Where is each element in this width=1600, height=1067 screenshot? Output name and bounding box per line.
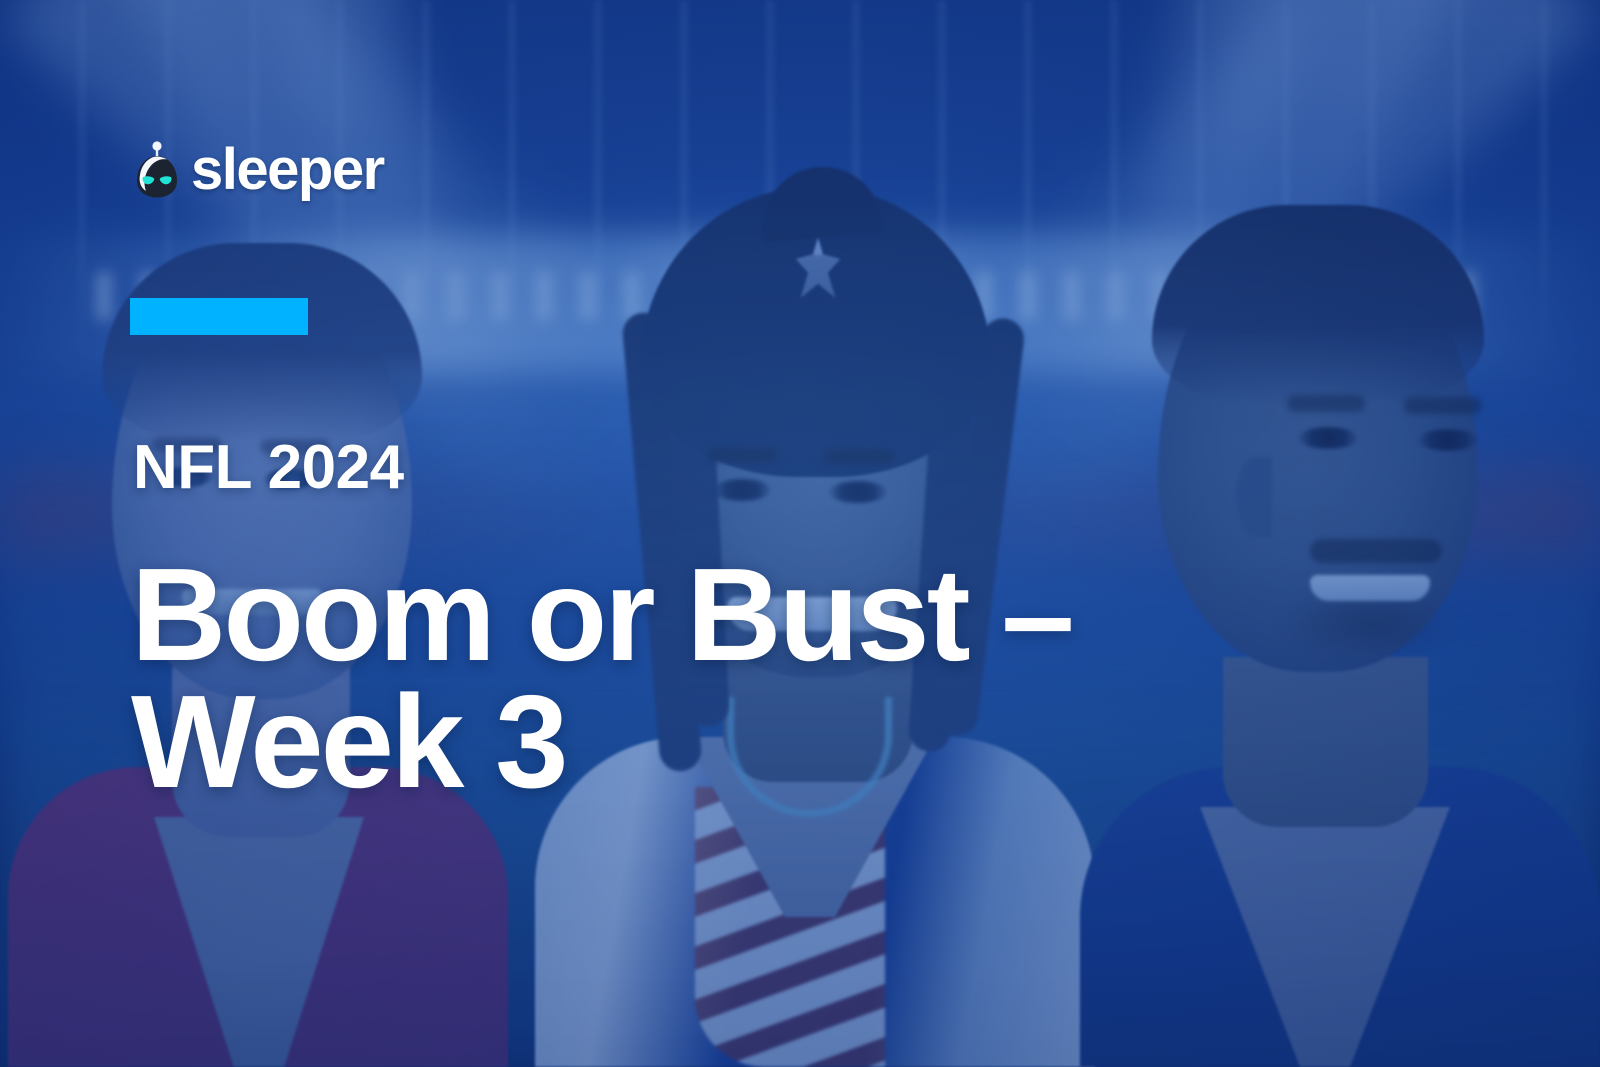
banner-content: sleeper NFL 2024 Boom or Bust – Week 3 — [0, 0, 1600, 1067]
banner-headline: Boom or Bust – Week 3 — [131, 552, 1331, 805]
sleeper-robot-icon — [131, 141, 183, 199]
banner-eyebrow: NFL 2024 — [133, 437, 404, 499]
sleeper-logo[interactable]: sleeper — [131, 141, 384, 199]
headline-line-2: Week 3 — [131, 679, 1331, 806]
sleeper-wordmark: sleeper — [191, 141, 384, 199]
headline-line-1: Boom or Bust – — [131, 552, 1331, 679]
accent-bar — [130, 298, 308, 335]
promo-banner: sleeper NFL 2024 Boom or Bust – Week 3 — [0, 0, 1600, 1067]
